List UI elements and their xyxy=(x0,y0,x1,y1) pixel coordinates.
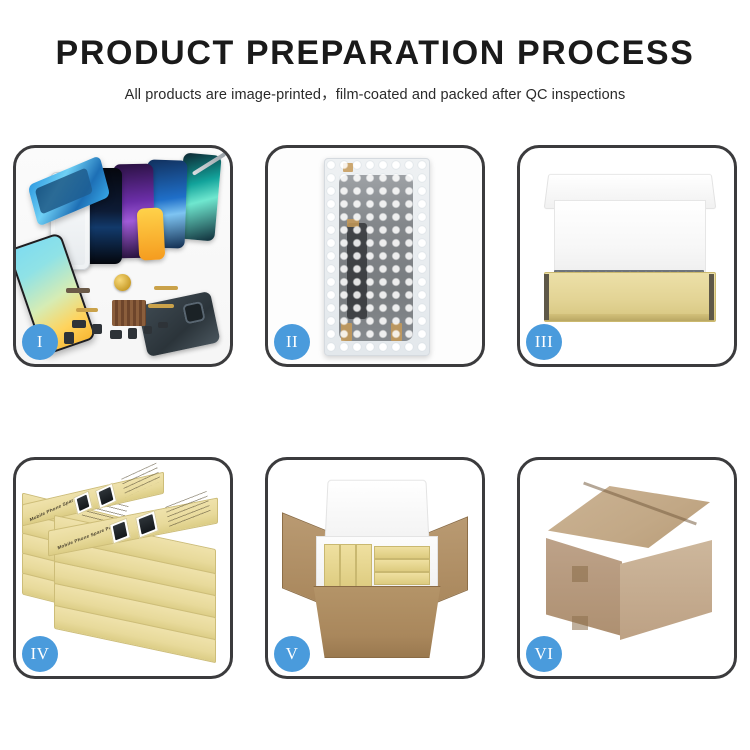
inner-yellow-box-1 xyxy=(324,544,340,590)
inner-yellow-box-3 xyxy=(356,544,372,590)
page-subtitle: All products are image-printed，film-coat… xyxy=(0,83,750,104)
logic-board-part xyxy=(112,300,146,326)
process-step-panel-1[interactable]: I xyxy=(13,145,233,367)
tape-patch-bottom-right xyxy=(391,323,402,341)
white-foam-sheet xyxy=(554,200,706,280)
flex-cable-part-2 xyxy=(148,304,174,308)
page-header: PRODUCT PREPARATION PROCESS All products… xyxy=(0,0,750,104)
box-print-lines-back-2 xyxy=(121,463,161,498)
step-badge-2: II xyxy=(274,324,310,360)
inner-yellow-box-4 xyxy=(374,546,430,559)
inner-yellow-box-2 xyxy=(340,544,356,590)
process-step-panel-2[interactable]: II xyxy=(265,145,485,367)
spare-parts-cluster xyxy=(70,278,190,352)
flex-cable-part-1 xyxy=(154,286,178,290)
vibration-motor-part xyxy=(114,274,131,291)
speaker-part xyxy=(72,320,86,328)
step-badge-4: IV xyxy=(22,636,58,672)
outer-carton-body xyxy=(308,586,446,658)
connector-part-1 xyxy=(110,330,122,339)
step-badge-3: III xyxy=(526,324,562,360)
box-thumbnail-front-2 xyxy=(135,510,159,538)
wrapped-flex-cable xyxy=(347,223,367,319)
connector-part-4 xyxy=(158,322,168,328)
page-title: PRODUCT PREPARATION PROCESS xyxy=(0,36,750,72)
process-step-grid: I II III xyxy=(13,145,737,679)
connector-part-3 xyxy=(144,326,152,334)
tape-patch-bottom-left xyxy=(341,323,352,341)
step-badge-1: I xyxy=(22,324,58,360)
process-step-panel-3[interactable]: III xyxy=(517,145,737,367)
phone-device-orange xyxy=(137,207,166,260)
flex-cable-part-3 xyxy=(76,308,98,312)
camera-module-part xyxy=(92,324,102,334)
inner-yellow-box-5 xyxy=(374,559,430,572)
tape-patch-top xyxy=(343,163,353,172)
carton-tape-patch-upper xyxy=(572,566,588,582)
button-part xyxy=(64,332,74,344)
inner-yellow-box-6 xyxy=(374,572,430,585)
process-step-panel-5[interactable]: V xyxy=(265,457,485,679)
bubble-wrap-sleeve xyxy=(324,158,430,356)
connector-part-2 xyxy=(128,328,137,339)
box-thumbnail-front-1 xyxy=(109,518,131,545)
kraft-box-front-edge xyxy=(544,314,714,321)
carton-right-face xyxy=(620,540,712,640)
box-print-lines-front xyxy=(165,491,210,528)
tape-patch-middle xyxy=(347,219,359,227)
box-corner-left xyxy=(544,274,549,320)
small-chip-part-1 xyxy=(66,288,90,293)
process-step-panel-4[interactable]: Mobile Phone Spare Parts Mobile Phone Sp… xyxy=(13,457,233,679)
process-step-panel-6[interactable]: VI xyxy=(517,457,737,679)
carton-tape-patch-lower xyxy=(572,616,588,630)
step-badge-6: VI xyxy=(526,636,562,672)
step-badge-5: V xyxy=(274,636,310,672)
carton-top-face xyxy=(548,486,710,548)
box-corner-right xyxy=(709,274,714,320)
